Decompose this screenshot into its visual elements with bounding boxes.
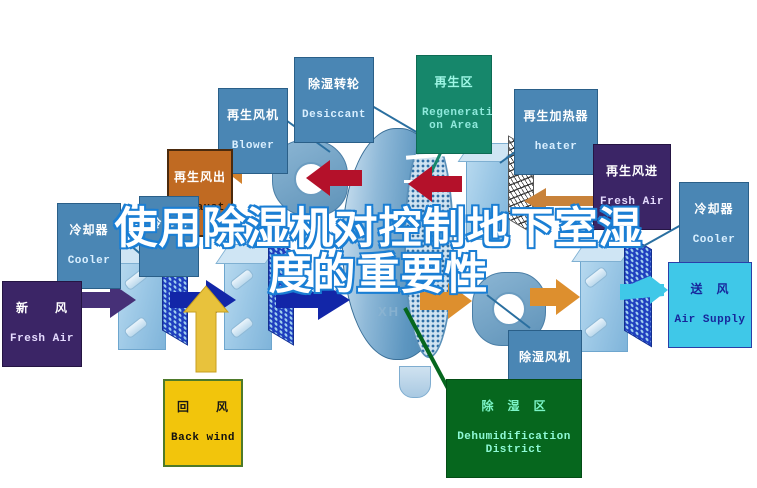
label-cn: 回 风 (170, 401, 236, 414)
overlay-title: 使用除湿机对控制地下室湿 度的重要性 (0, 206, 757, 299)
label-cn: 除 湿 区 (452, 400, 576, 413)
rotor-watermark: XH (378, 304, 400, 319)
label-cn: 除湿风机 (514, 351, 576, 364)
label-cn: 除湿转轮 (300, 78, 368, 91)
label-cn: 再生加热器 (520, 110, 592, 123)
label-dehumidification-district[interactable]: 除 湿 区 Dehumidification District (446, 379, 582, 478)
label-en: Dehumidification District (452, 431, 576, 456)
rotor-sector-divider-2 (404, 180, 448, 183)
label-en: Fresh Air (8, 333, 76, 345)
rotor-drain-foot (399, 366, 431, 398)
label-back-wind[interactable]: 回 风 Back wind (163, 379, 243, 467)
label-en: Regenerati on Area (422, 107, 486, 132)
label-en: Back wind (170, 432, 236, 444)
label-cn: 再生风出 (174, 171, 226, 184)
label-en: Desiccant (300, 109, 368, 121)
blower-hub (294, 162, 328, 196)
dehumidifier-diagram: XH (0, 0, 757, 488)
label-en: Air Supply (674, 314, 746, 326)
label-desiccant-wheel[interactable]: 除湿转轮 Desiccant (294, 57, 374, 143)
label-cn: 再生风机 (224, 109, 282, 122)
label-regeneration-area[interactable]: 再生区 Regenerati on Area (416, 55, 492, 154)
title-line-2: 度的重要性 (0, 252, 757, 298)
label-cn: 再生区 (422, 76, 486, 89)
label-cn: 再生风进 (599, 165, 665, 178)
title-line-1: 使用除湿机对控制地下室湿 (0, 206, 757, 252)
arrow-back-wind (184, 286, 228, 372)
label-cn: 新 风 (8, 302, 76, 315)
label-en: heater (520, 141, 592, 153)
label-regeneration-heater[interactable]: 再生加热器 heater (514, 89, 598, 175)
